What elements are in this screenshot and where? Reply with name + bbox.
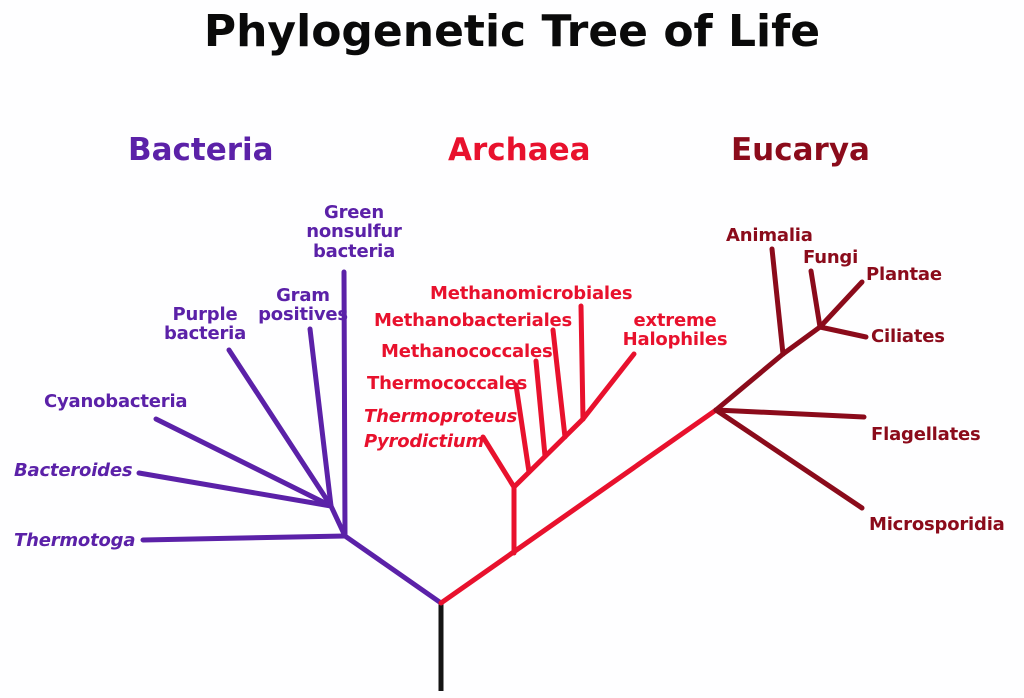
leaf-label-bacteroides: Bacteroides — [14, 461, 132, 480]
leaf-label-line-3: bacteria — [294, 242, 414, 261]
leaf-label-plantae: Plantae — [866, 265, 942, 284]
leaf-label-cyanobacteria: Cyanobacteria — [44, 392, 187, 411]
leaf-label-line-2: nonsulfur — [294, 222, 414, 241]
leaf-label-line-1: extreme — [613, 311, 737, 330]
bacteria-stem-line — [345, 536, 441, 603]
leaf-label-thermoproteus: Thermoproteus — [364, 407, 517, 426]
leaf-label-purple-bacteria: Purple bacteria — [150, 305, 260, 344]
branch-microsporidia — [716, 410, 862, 508]
branch-thermococcales — [516, 385, 529, 472]
branch-flagellates — [716, 410, 864, 417]
leaf-label-gram-positives: Gram positives — [248, 286, 358, 325]
branch-methanomicrobiales — [581, 306, 583, 419]
branch-methanococcales — [536, 361, 545, 456]
leaf-label-methanobacteriales: Methanobacteriales — [374, 311, 572, 330]
leaf-label-green-nonsulfur-bacteria: Green nonsulfur bacteria — [294, 203, 414, 261]
leaf-label-thermococcales: Thermococcales — [367, 374, 527, 393]
leaf-label-line-1: Gram — [248, 286, 358, 305]
branch-fungi — [811, 271, 820, 327]
leaf-label-extreme-halophiles: extreme Halophiles — [613, 311, 737, 350]
branch-thermoproteus-pyrodictium — [483, 437, 514, 487]
eucarya-branch-group — [716, 249, 866, 508]
leaf-label-methanomicrobiales: Methanomicrobiales — [430, 284, 632, 303]
domain-heading-archaea: Archaea — [448, 134, 591, 167]
leaf-label-line-1: Green — [294, 203, 414, 222]
branch-plantae — [820, 282, 862, 327]
leaf-label-pyrodictium: Pyrodictium — [364, 432, 484, 451]
leaf-label-animalia: Animalia — [726, 226, 813, 245]
domain-heading-eucarya: Eucarya — [731, 134, 870, 167]
branch-ciliates — [820, 327, 866, 337]
leaf-label-thermotoga: Thermotoga — [14, 531, 135, 550]
eucarya-stem-line — [716, 354, 783, 410]
leaf-label-line-2: positives — [248, 305, 358, 324]
leaf-label-flagellates: Flagellates — [871, 425, 981, 444]
leaf-label-methanococcales: Methanococcales — [381, 342, 552, 361]
page-title: Phylogenetic Tree of Life — [0, 8, 1024, 56]
domain-heading-bacteria: Bacteria — [128, 134, 274, 167]
branch-extreme-halophiles — [583, 354, 634, 419]
leaf-label-microsporidia: Microsporidia — [869, 515, 1005, 534]
branch-methanobacteriales — [553, 330, 565, 437]
eucarya-crown-spine — [783, 327, 820, 354]
leaf-label-line-2: Halophiles — [613, 330, 737, 349]
branch-thermotoga — [143, 536, 345, 540]
leaf-label-line-1: Purple — [150, 305, 260, 324]
leaf-label-ciliates: Ciliates — [871, 327, 945, 346]
leaf-label-line-2: bacteria — [150, 324, 260, 343]
phylogenetic-tree-figure: Phylogenetic Tree of Life Bacteria Archa… — [0, 0, 1024, 698]
branch-animalia — [772, 249, 783, 354]
leaf-label-fungi: Fungi — [803, 248, 858, 267]
